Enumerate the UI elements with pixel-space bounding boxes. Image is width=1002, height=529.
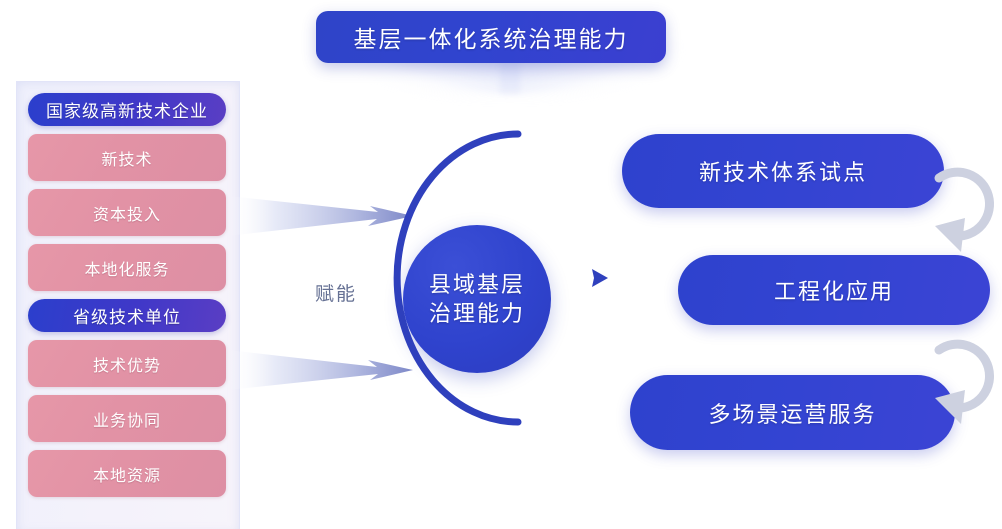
center-node[interactable]: 县域基层 治理能力 [403,225,551,373]
chip-label: 本地资源 [93,462,161,486]
chip-business-collaboration[interactable]: 业务协同 [28,395,226,442]
center-node-line1: 县域基层 [429,270,525,299]
group-header-national-label: 国家级高新技术企业 [46,97,208,122]
title-banner-label: 基层一体化系统治理能力 [354,20,629,54]
left-panel: 国家级高新技术企业 新技术 资本投入 本地化服务 省级技术单位 技术优势 业务协… [16,81,238,529]
step-pill-label: 多场景运营服务 [708,397,876,429]
connector-label-text: 赋能 [315,284,357,305]
center-node-line2: 治理能力 [429,299,525,328]
chip-label: 新技术 [101,146,152,170]
chip-label: 业务协同 [93,407,161,431]
step-pill-engineering-application[interactable]: 工程化应用 [678,255,990,325]
step-pill-new-tech-pilot[interactable]: 新技术体系试点 [622,134,944,208]
connector-label: 赋能 [305,279,367,306]
chip-capital-investment[interactable]: 资本投入 [28,189,226,236]
group-header-national[interactable]: 国家级高新技术企业 [28,93,226,126]
step-pill-label: 工程化应用 [774,274,894,306]
chip-local-resources[interactable]: 本地资源 [28,450,226,497]
title-banner[interactable]: 基层一体化系统治理能力 [316,11,666,63]
chip-technical-advantage[interactable]: 技术优势 [28,340,226,387]
group-header-provincial-label: 省级技术单位 [73,303,181,328]
chip-label: 本地化服务 [84,256,169,280]
diagram-canvas: 基层一体化系统治理能力 国家级高新技术企业 新技术 资本投入 本地化服务 省级技… [0,0,1002,529]
chip-label: 资本投入 [93,201,161,225]
group-header-provincial[interactable]: 省级技术单位 [28,299,226,332]
chip-new-technology[interactable]: 新技术 [28,134,226,181]
chip-localized-service[interactable]: 本地化服务 [28,244,226,291]
step-pill-label: 新技术体系试点 [699,155,867,187]
step-pill-multi-scenario-operation[interactable]: 多场景运营服务 [630,375,955,450]
chip-label: 技术优势 [93,352,161,376]
